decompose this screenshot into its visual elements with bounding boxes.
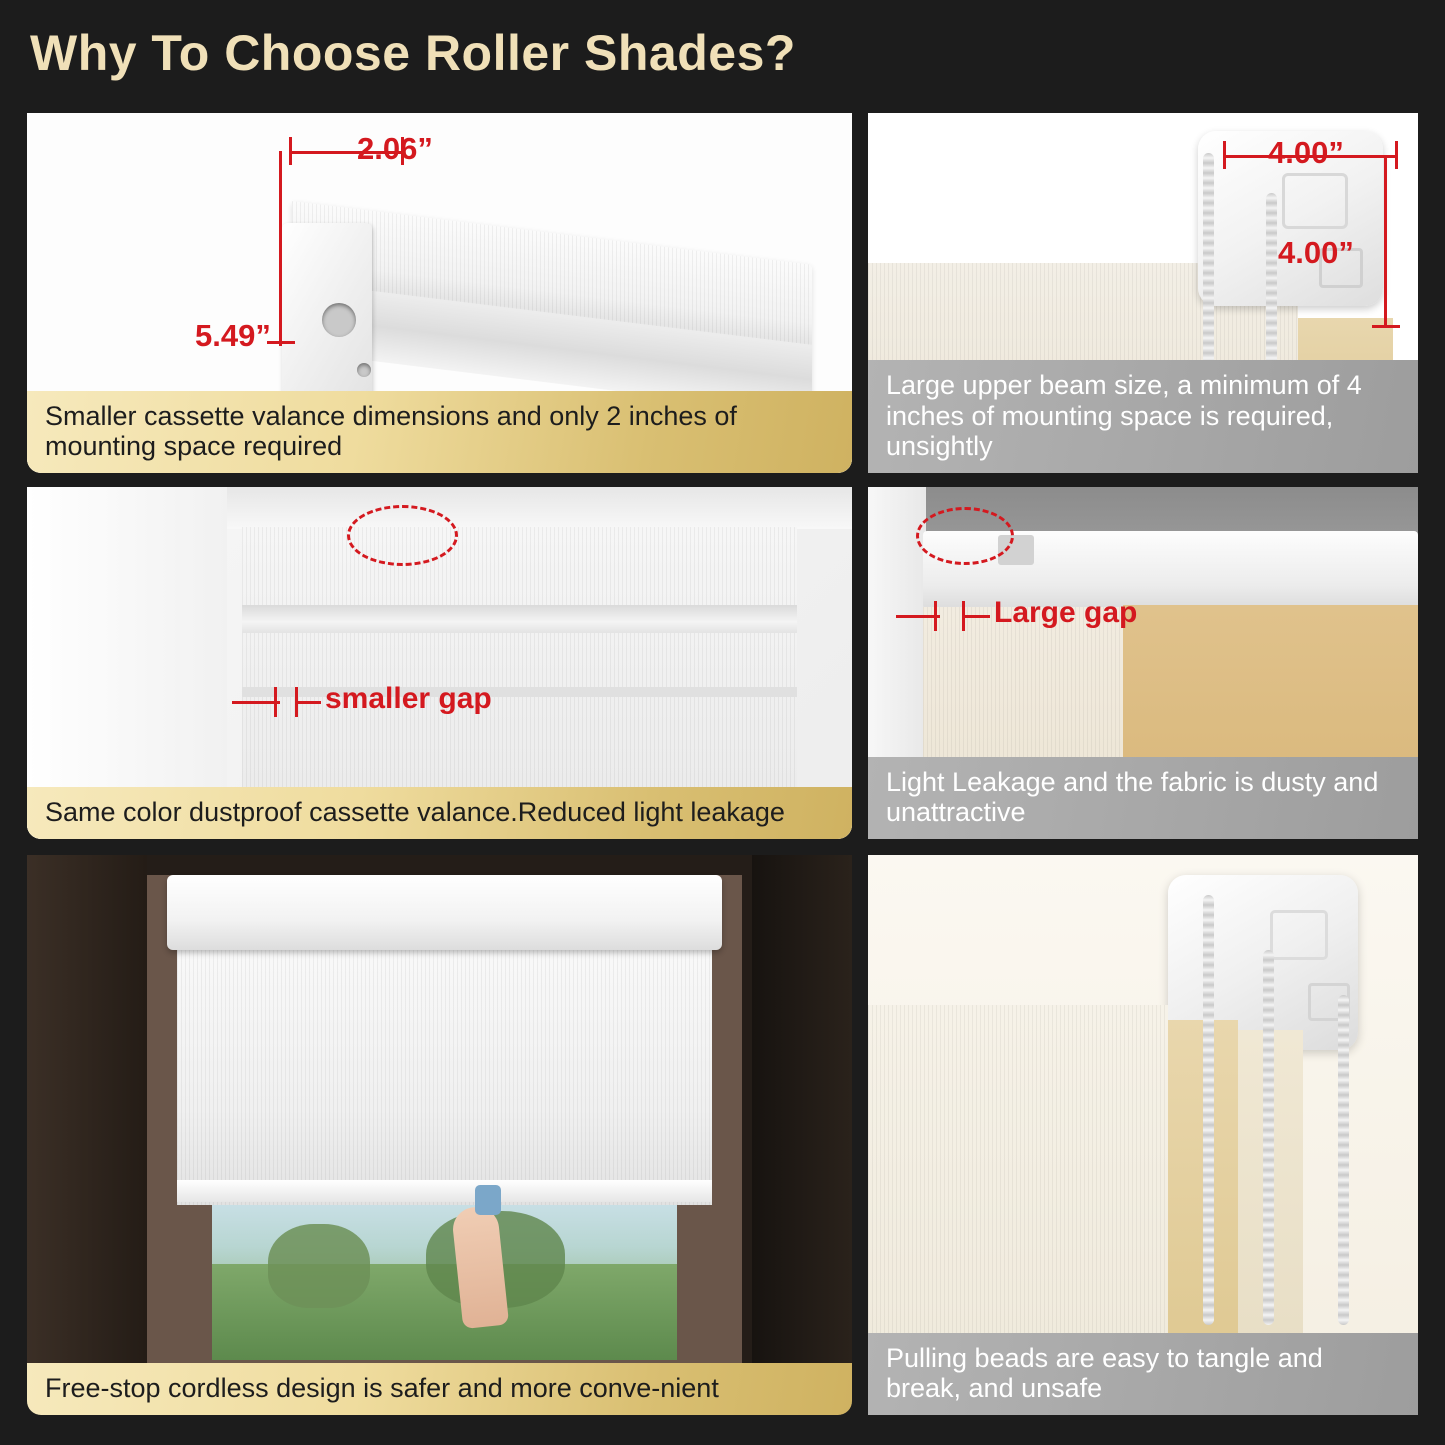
large-gap-label: Large gap <box>994 596 1137 630</box>
bead-chain <box>1203 895 1214 1325</box>
infographic-page: Why To Choose Roller Shades? 2.06” 5.49”… <box>0 0 1445 1445</box>
panel-smaller-gap: smaller gap Same color dustproof cassett… <box>27 487 852 839</box>
panel-large-gap: Large gap Light Leakage and the fabric i… <box>868 487 1418 839</box>
beam-depth-label: 4.00” <box>1278 235 1354 271</box>
height-dimension-label: 5.49” <box>195 318 271 354</box>
panel-caption: Light Leakage and the fabric is dusty an… <box>868 757 1418 839</box>
panel-caption: Large upper beam size, a minimum of 4 in… <box>868 360 1418 473</box>
page-title: Why To Choose Roller Shades? <box>30 24 796 82</box>
panel-cordless: Free-stop cordless design is safer and m… <box>27 855 852 1415</box>
panel-beads: Pulling beads are easy to tangle and bre… <box>868 855 1418 1415</box>
smaller-gap-label: smaller gap <box>325 682 492 716</box>
panel-caption: Same color dustproof cassette valance.Re… <box>27 787 852 839</box>
bead-chain <box>1263 950 1274 1325</box>
pulling-beads-photo <box>868 855 1418 1415</box>
beam-width-label: 4.00” <box>1268 135 1344 171</box>
panel-caption: Smaller cassette valance dimensions and … <box>27 391 852 473</box>
cordless-room-photo <box>27 855 852 1415</box>
height-dim-line <box>279 151 282 346</box>
panel-cassette-dimensions: 2.06” 5.49” Smaller cassette valance dim… <box>27 113 852 473</box>
gap-highlight-ellipse <box>916 507 1014 565</box>
width-dimension-label: 2.06” <box>357 131 433 167</box>
bead-chain <box>1338 995 1349 1325</box>
panel-caption: Pulling beads are easy to tangle and bre… <box>868 1333 1418 1415</box>
gap-highlight-ellipse <box>347 505 458 566</box>
panel-large-beam: 4.00” 4.00” Large upper beam size, a min… <box>868 113 1418 473</box>
panel-caption: Free-stop cordless design is safer and m… <box>27 1363 852 1415</box>
